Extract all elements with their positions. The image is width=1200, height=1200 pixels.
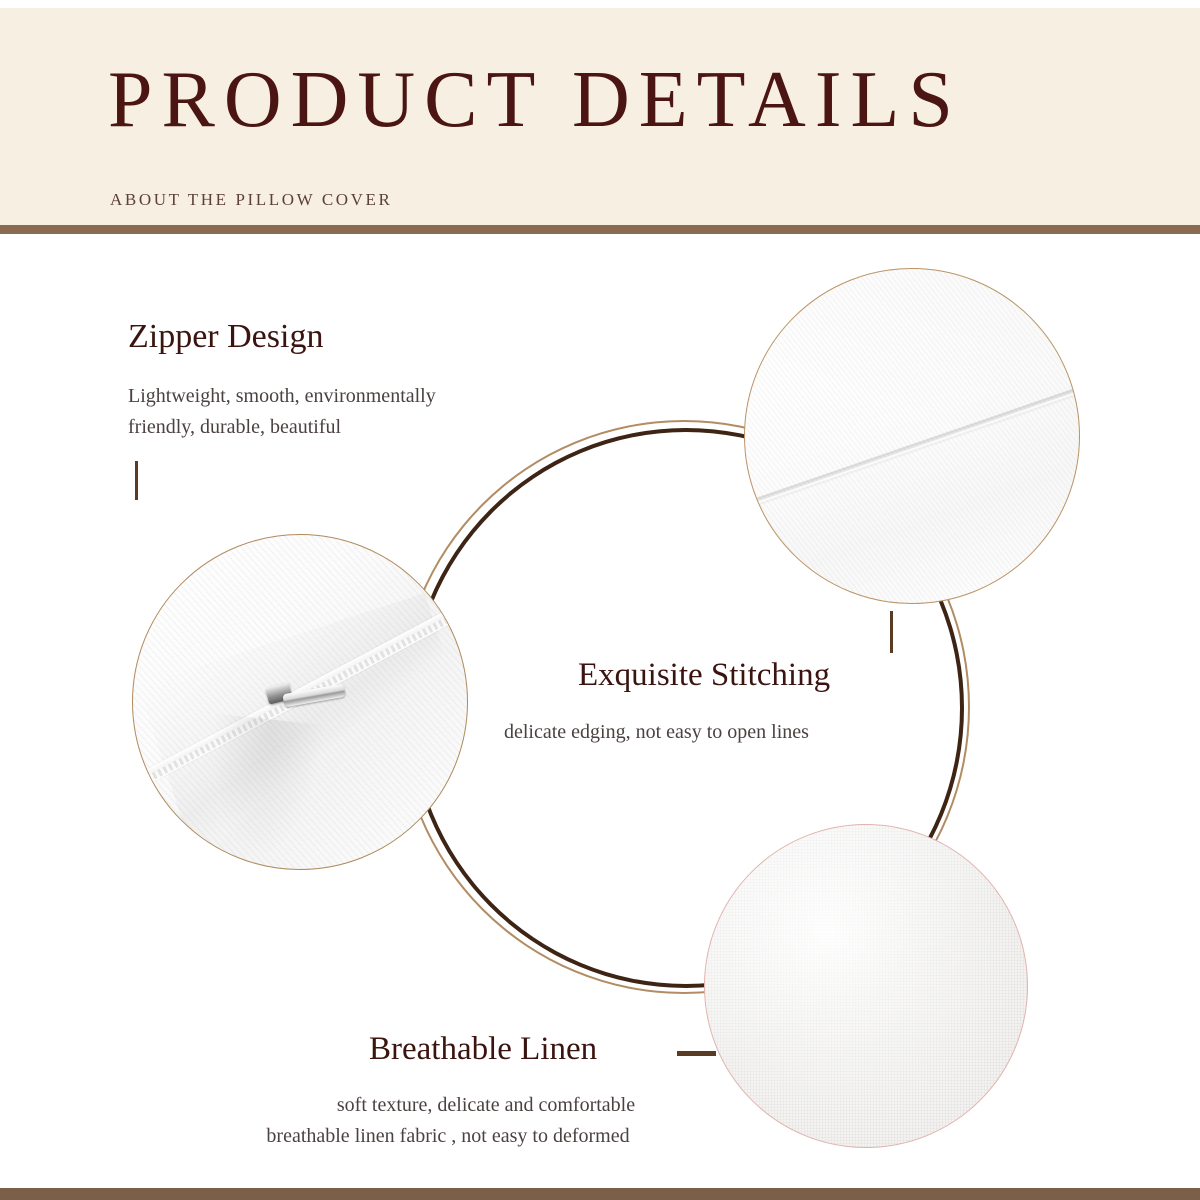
zipper-photo-circle — [132, 534, 468, 870]
linen-description-line-1: soft texture, delicate and comfortable — [304, 1090, 668, 1121]
zipper-feature-heading: Zipper Design — [128, 320, 323, 354]
product-details-infographic: PRODUCT DETAILS ABOUT THE PILLOW COVER Z… — [0, 0, 1200, 1200]
zipper-connector-tick — [135, 461, 138, 500]
stitching-photo-circle — [744, 268, 1080, 604]
footer-divider-bar — [0, 1188, 1200, 1200]
stitching-fabric-shading — [745, 269, 1079, 463]
linen-photo-circle — [704, 824, 1028, 1148]
linen-feature-heading: Breathable Linen — [369, 1033, 597, 1066]
stitching-feature-description: delicate edging, not easy to open lines — [504, 717, 809, 748]
linen-description-line-2: breathable linen fabric , not easy to de… — [228, 1121, 668, 1152]
zipper-feature-description: Lightweight, smooth, environmentally fri… — [128, 381, 436, 443]
stitching-feature-heading: Exquisite Stitching — [578, 659, 830, 692]
linen-connector-dash — [677, 1051, 716, 1056]
linen-feature-description: soft texture, delicate and comfortable b… — [228, 1090, 668, 1152]
stitching-connector-tick — [890, 611, 893, 653]
page-subtitle: ABOUT THE PILLOW COVER — [110, 190, 392, 210]
header-divider-bar — [0, 225, 1200, 234]
header-band: PRODUCT DETAILS ABOUT THE PILLOW COVER — [0, 8, 1200, 225]
zipper-fabric-shadow — [199, 713, 327, 864]
zipper-description-line-2: friendly, durable, beautiful — [128, 412, 436, 443]
linen-fabric-sheen — [705, 825, 1027, 1147]
page-title: PRODUCT DETAILS — [108, 60, 962, 140]
zipper-description-line-1: Lightweight, smooth, environmentally — [128, 381, 436, 412]
